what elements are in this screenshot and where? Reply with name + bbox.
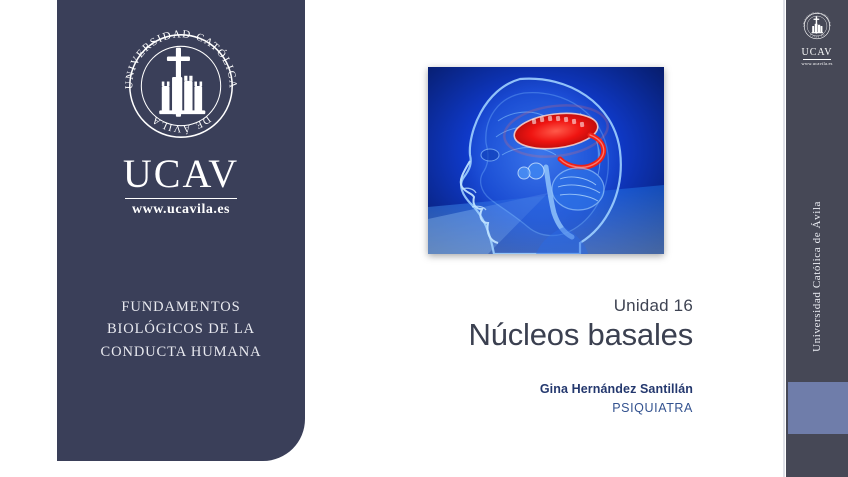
brain-illustration-graphic <box>428 67 664 254</box>
ucav-divider <box>125 198 237 199</box>
left-branding-panel: UNIVERSIDAD CATÓLICA DE ÁVILA <box>57 0 305 461</box>
ucav-wordmark: UCAV <box>57 154 305 194</box>
brain-basal-ganglia-image <box>428 67 664 254</box>
course-title-line-1: FUNDAMENTOS <box>57 296 305 318</box>
ucav-logo-block: UNIVERSIDAD CATÓLICA DE ÁVILA <box>57 22 305 218</box>
author-role: PSIQUIATRA <box>330 401 693 415</box>
right-ucav-url: www.ucavila.es <box>786 61 848 66</box>
slide-title: Núcleos basales <box>250 318 693 353</box>
right-ucav-logo-block: UNIVERSIDAD CATÓLICA DE ÁVILA UCAV www.u… <box>786 10 848 66</box>
ucav-seal-icon-small: UNIVERSIDAD CATÓLICA DE ÁVILA <box>801 10 833 42</box>
sidebar-vertical-label-text: Universidad Católica de Ávila <box>811 201 823 352</box>
sidebar-vertical-label: Universidad Católica de Ávila <box>786 196 848 356</box>
author-name: Gina Hernández Santillán <box>330 382 693 396</box>
right-ucav-divider <box>803 59 831 60</box>
ucav-url: www.ucavila.es <box>57 202 305 218</box>
right-ucav-wordmark: UCAV <box>786 48 848 58</box>
sidebar-accent-block <box>788 382 848 434</box>
right-sidebar-divider <box>783 0 785 477</box>
presentation-slide: UNIVERSIDAD CATÓLICA DE ÁVILA <box>0 0 848 477</box>
unit-label: Unidad 16 <box>330 296 693 316</box>
ucav-seal-icon: UNIVERSIDAD CATÓLICA DE ÁVILA <box>117 22 245 150</box>
